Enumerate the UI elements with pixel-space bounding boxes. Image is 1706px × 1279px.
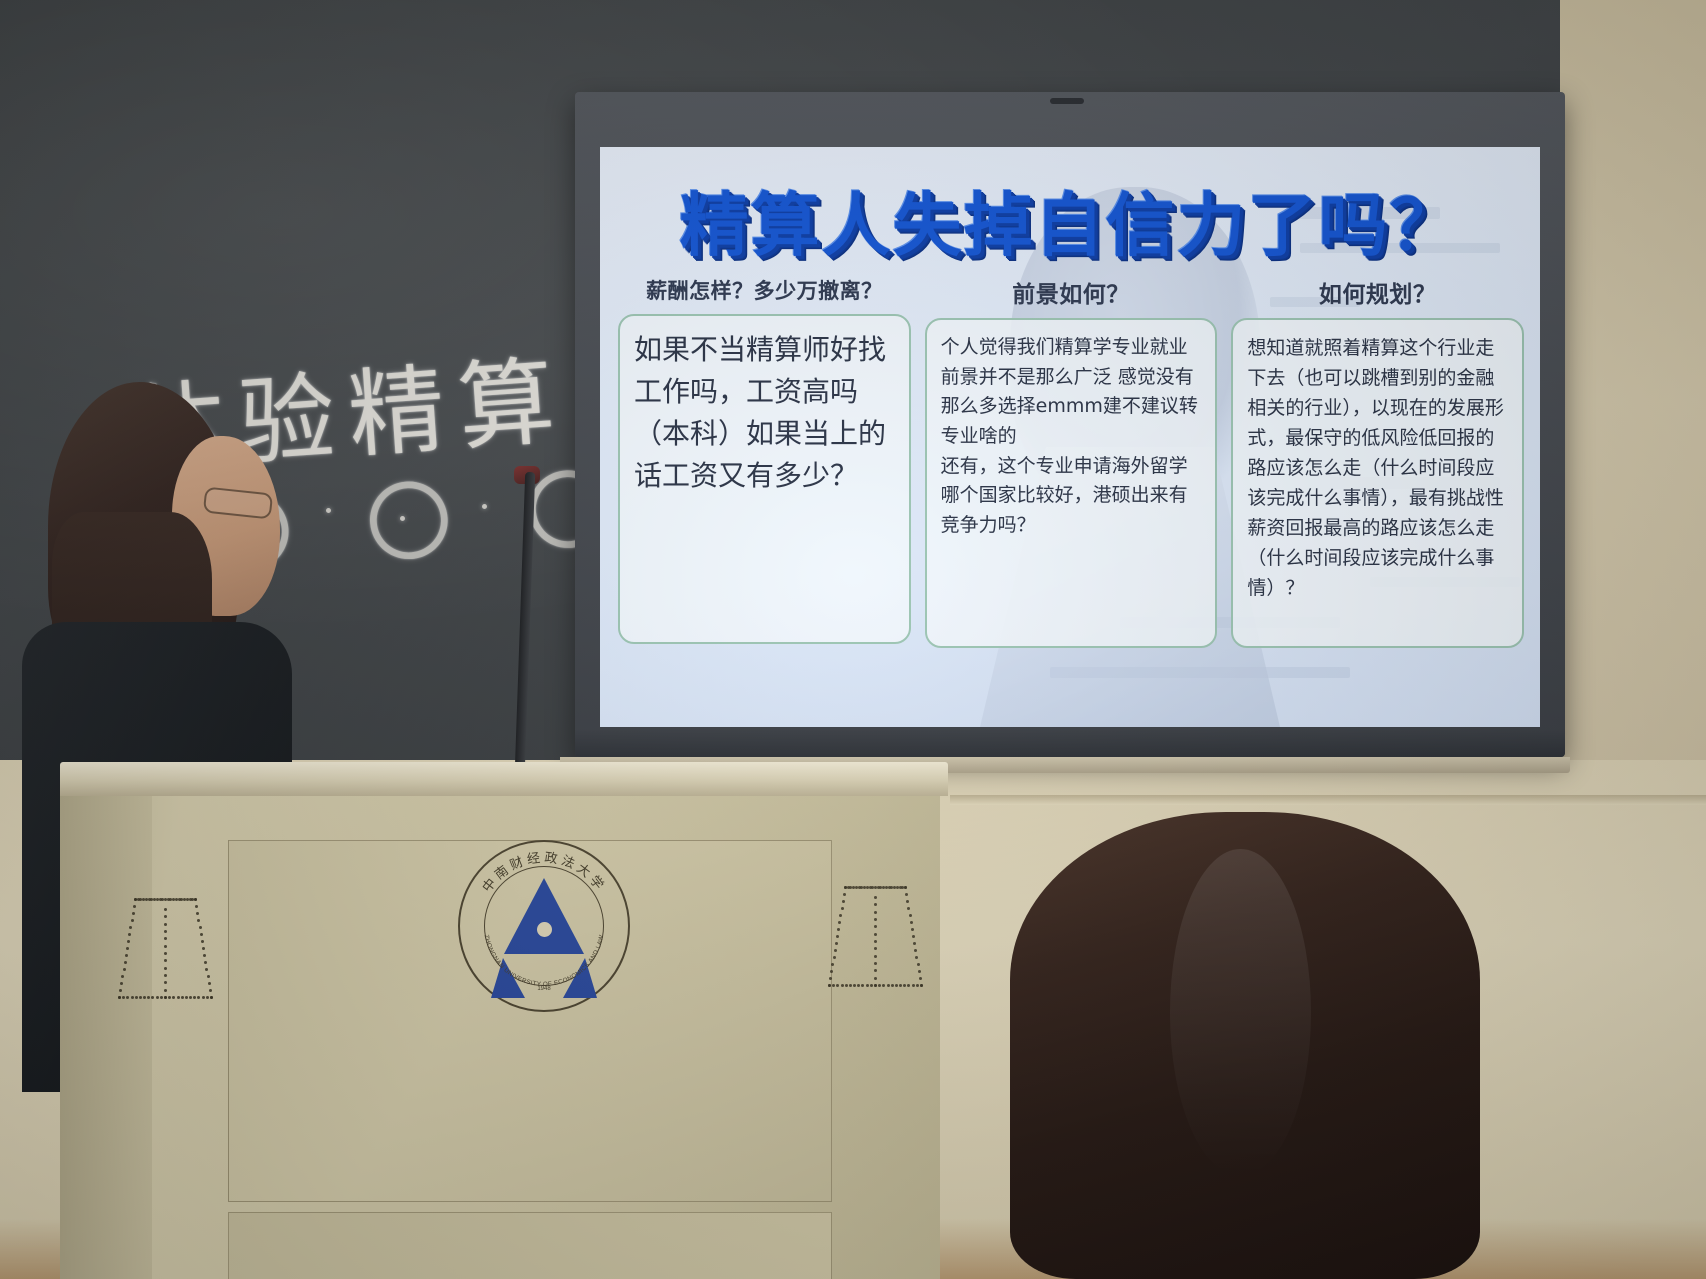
- smart-display[interactable]: 精算人失掉自信力了吗？ 薪酬怎样？多少万撤离？ 如果不当精算师好找工作吗，工资高…: [575, 92, 1565, 757]
- wall-right: [1545, 0, 1706, 800]
- wall-trim: [950, 795, 1706, 805]
- slide-surface: 精算人失掉自信力了吗？ 薪酬怎样？多少万撤离？ 如果不当精算师好找工作吗，工资高…: [600, 147, 1540, 727]
- lecture-podium: 中南财经政法大学 ZHONGNAN UNIVERSITY OF ECONOMIC…: [60, 762, 948, 1279]
- question-column-planning: 如何规划？ 想知道就照着精算这个行业走下去（也可以跳槽到别的金融相关的行业），以…: [1231, 275, 1524, 648]
- svg-text:中南财经政法大学: 中南财经政法大学: [479, 850, 609, 895]
- audience-student: [1010, 812, 1480, 1279]
- column-header: 如何规划？: [1319, 275, 1437, 309]
- question-card-text: 如果不当精算师好找工作吗，工资高吗（本科）如果当上的话工资又有多少？: [634, 329, 897, 497]
- university-seal-logo: 中南财经政法大学 ZHONGNAN UNIVERSITY OF ECONOMIC…: [458, 840, 630, 1012]
- question-card-text: 个人觉得我们精算学专业就业前景并不是那么广泛 感觉没有那么多选择emmm建不建议…: [941, 333, 1204, 540]
- seal-chinese-text: 中南财经政法大学: [479, 850, 609, 895]
- seal-year: 1948: [537, 986, 551, 992]
- question-card: 想知道就照着精算这个行业走下去（也可以跳槽到别的金融相关的行业），以现在的发展形…: [1231, 318, 1524, 648]
- speaker-grille-left-icon: [110, 892, 218, 1002]
- podium-lower-panel: [228, 1212, 832, 1279]
- camera-icon: [1050, 98, 1084, 104]
- display-bottom-bezel: [575, 729, 1565, 757]
- speaker-grille-right-icon: [820, 880, 928, 990]
- question-column-salary: 薪酬怎样？多少万撤离？ 如果不当精算师好找工作吗，工资高吗（本科）如果当上的话工…: [618, 275, 911, 644]
- slide-question-columns: 薪酬怎样？多少万撤离？ 如果不当精算师好找工作吗，工资高吗（本科）如果当上的话工…: [618, 275, 1524, 705]
- question-card-text: 想知道就照着精算这个行业走下去（也可以跳槽到别的金融相关的行业），以现在的发展形…: [1247, 333, 1510, 603]
- seal-english-text: ZHONGNAN UNIVERSITY OF ECONOMICS AND LAW: [483, 934, 606, 988]
- column-header: 前景如何？: [1012, 275, 1130, 309]
- classroom-photo: 体验精算 〇 〇 〇 精算人失掉自信力了吗？: [0, 0, 1706, 1279]
- question-card: 个人觉得我们精算学专业就业前景并不是那么广泛 感觉没有那么多选择emmm建不建议…: [925, 318, 1218, 648]
- svg-text:ZHONGNAN UNIVERSITY OF ECONOMI: ZHONGNAN UNIVERSITY OF ECONOMICS AND LAW: [483, 934, 606, 988]
- column-header: 薪酬怎样？多少万撤离？: [646, 275, 883, 305]
- question-card: 如果不当精算师好找工作吗，工资高吗（本科）如果当上的话工资又有多少？: [618, 314, 911, 644]
- slide-title: 精算人失掉自信力了吗？: [600, 169, 1540, 269]
- question-column-prospects: 前景如何？ 个人觉得我们精算学专业就业前景并不是那么广泛 感觉没有那么多选择em…: [925, 275, 1218, 648]
